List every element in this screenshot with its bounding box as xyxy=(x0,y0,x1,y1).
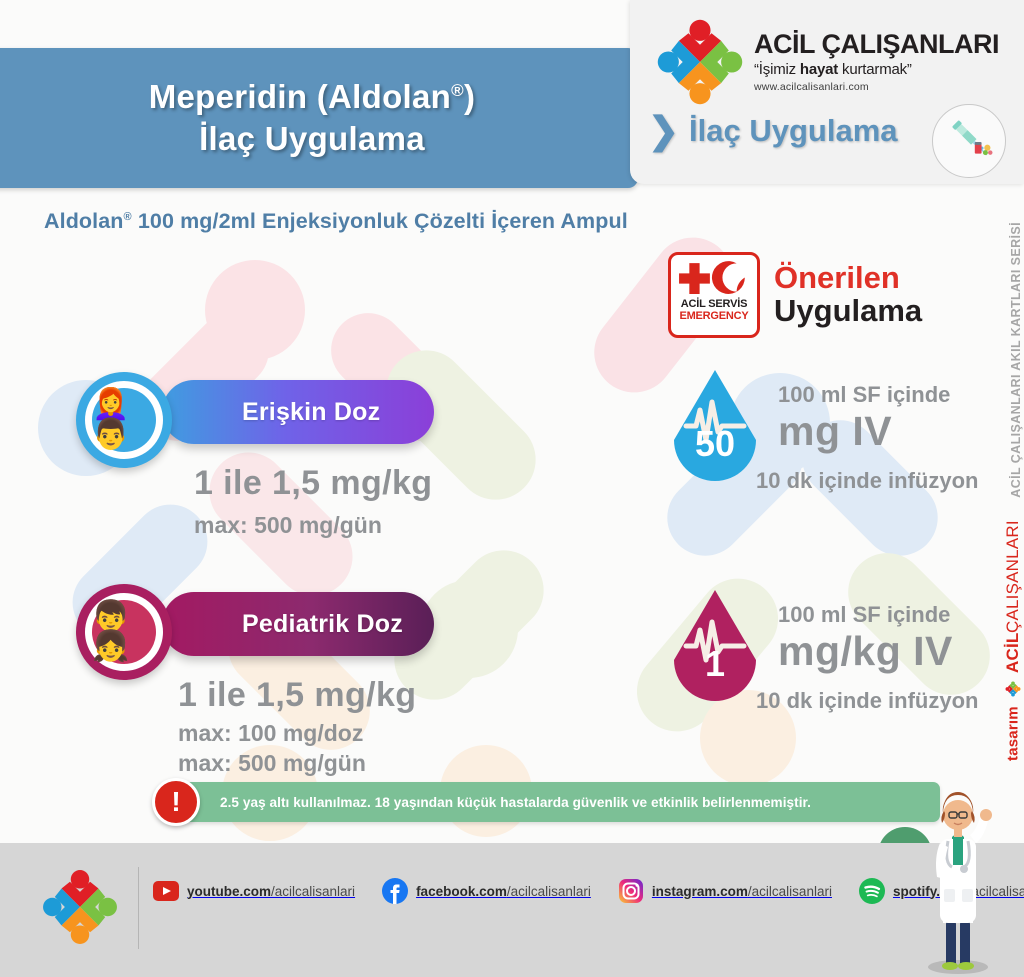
adult-route-top-text: 100 ml SF içinde xyxy=(778,382,950,408)
social-domain-instagram: instagram.com xyxy=(652,884,748,899)
adult-route-bottom-text: 10 dk içinde infüzyon xyxy=(756,468,978,494)
children-icon: 👦👧 xyxy=(76,584,172,680)
slogan-bold: hayat xyxy=(800,61,838,78)
pediatric-drop-value: 1 xyxy=(668,646,762,682)
social-links: youtube.com/acilcalisanlari facebook.com… xyxy=(152,877,1024,905)
social-link-facebook[interactable]: facebook.com/acilcalisanlari xyxy=(381,877,591,905)
subtitle-pre: Aldolan xyxy=(44,209,124,233)
youtube-icon xyxy=(152,877,180,905)
pediatric-dose-pill[interactable]: Pediatrik Doz xyxy=(162,592,434,656)
facebook-icon xyxy=(381,877,409,905)
social-label-youtube: youtube.com/acilcalisanlari xyxy=(187,884,355,899)
adult-dose-block: Erişkin Doz 👩‍🦰👨 1 ile 1,5 mg/kg max: 50… xyxy=(66,372,486,562)
slogan-open: “İşimiz xyxy=(754,61,800,78)
children-emoji: 👦👧 xyxy=(92,600,156,664)
social-label-instagram: instagram.com/acilcalisanlari xyxy=(652,884,832,899)
instagram-icon xyxy=(617,877,645,905)
title-line1-end: ) xyxy=(464,78,475,115)
product-subtitle: Aldolan® 100 mg/2ml Enjeksiyonluk Çözelt… xyxy=(44,209,628,234)
adult-dose-pill[interactable]: Erişkin Doz xyxy=(162,380,434,444)
pediatric-route-main-text: mg/kg IV xyxy=(778,628,953,675)
pediatric-dose-max-2: max: 500 mg/gün xyxy=(178,750,366,777)
pediatric-drop-icon: 1 xyxy=(668,588,762,706)
series-side-label: ACİL ÇALIŞANLARI AKIL KARTLARI SERİSİ xyxy=(1009,222,1023,498)
exclamation-icon: ! xyxy=(152,778,200,826)
footer-bar: youtube.com/acilcalisanlari facebook.com… xyxy=(0,843,1024,977)
social-handle-youtube: /acilcalisanlari xyxy=(271,884,355,899)
syringe-icon xyxy=(932,104,1006,178)
section-label: İlaç Uygulama xyxy=(689,115,897,146)
social-domain-facebook: facebook.com xyxy=(416,884,507,899)
emergency-badge-line2: EMERGENCY xyxy=(679,310,748,322)
adult-route-main-text: mg IV xyxy=(778,408,892,455)
credit-brand-bold: ACİL xyxy=(1003,633,1023,673)
pediatric-dose-max-1: max: 100 mg/doz xyxy=(178,720,363,747)
credit-side-label: tasarım ACİL ÇALIŞANLARI xyxy=(1003,520,1023,761)
credit-mini-logo-icon xyxy=(1005,681,1022,699)
social-domain-youtube: youtube.com xyxy=(187,884,271,899)
title-line1: Meperidin (Aldolan xyxy=(149,78,451,115)
brand-name: ACİL ÇALIŞANLARI xyxy=(754,31,999,58)
adult-drop-icon: 50 xyxy=(668,368,762,486)
brand-url: www.acilcalisanlari.com xyxy=(754,81,999,93)
recommended-heading: ACİL SERVİS EMERGENCY Önerilen Uygulama xyxy=(668,252,922,338)
social-label-facebook: facebook.com/acilcalisanlari xyxy=(416,884,591,899)
emergency-badge-line1: ACİL SERVİS xyxy=(681,298,747,310)
emergency-cross-crescent-icon xyxy=(677,259,751,296)
pediatric-dose-value: 1 ile 1,5 mg/kg xyxy=(178,676,416,715)
recommended-line2: Uygulama xyxy=(774,295,922,328)
adult-dose-label: Erişkin Doz xyxy=(242,398,380,427)
infographic-card: Meperidin (Aldolan®) İlaç Uygulama xyxy=(0,0,1024,977)
brand-row: ACİL ÇALIŞANLARI “İşimiz hayat kurtarmak… xyxy=(652,12,1012,112)
title-banner: Meperidin (Aldolan®) İlaç Uygulama xyxy=(0,48,638,188)
brand-panel: ACİL ÇALIŞANLARI “İşimiz hayat kurtarmak… xyxy=(630,0,1024,184)
adults-emoji: 👩‍🦰👨 xyxy=(92,388,156,452)
credit-brand: ÇALIŞANLARI xyxy=(1003,520,1023,633)
footer-divider xyxy=(138,867,139,949)
social-handle-facebook: /acilcalisanlari xyxy=(507,884,591,899)
brand-text: ACİL ÇALIŞANLARI “İşimiz hayat kurtarmak… xyxy=(754,31,999,93)
brand-slogan: “İşimiz hayat kurtarmak” xyxy=(754,61,999,78)
page-title: Meperidin (Aldolan®) İlaç Uygulama xyxy=(0,48,638,188)
section-header: ❯ İlaç Uygulama xyxy=(648,112,898,149)
pediatric-route-top-text: 100 ml SF içinde xyxy=(778,602,950,628)
emergency-badge: ACİL SERVİS EMERGENCY xyxy=(668,252,760,338)
title-line2: İlaç Uygulama xyxy=(199,118,425,160)
subtitle-post: 100 mg/2ml Enjeksiyonluk Çözelti İçeren … xyxy=(132,209,628,233)
adult-drop-value: 50 xyxy=(668,426,762,462)
pediatric-route-bottom-text: 10 dk içinde infüzyon xyxy=(756,688,978,714)
footer-logo-icon xyxy=(38,865,122,949)
recommended-heading-text: Önerilen Uygulama xyxy=(774,262,922,328)
warning-text: 2.5 yaş altı kullanılmaz. 18 yaşından kü… xyxy=(220,782,811,822)
acilcalisanlari-logo-icon xyxy=(652,14,748,110)
adults-icon: 👩‍🦰👨 xyxy=(76,372,172,468)
adult-dose-value: 1 ile 1,5 mg/kg xyxy=(194,464,432,503)
spotify-icon xyxy=(858,877,886,905)
adult-dose-max-1: max: 500 mg/gün xyxy=(194,512,382,539)
chevron-right-icon: ❯ xyxy=(648,112,679,149)
social-link-youtube[interactable]: youtube.com/acilcalisanlari xyxy=(152,877,355,905)
warning-banner: ! 2.5 yaş altı kullanılmaz. 18 yaşından … xyxy=(168,782,940,822)
adult-route-block: 50 100 ml SF içinde mg IV 10 dk içinde i… xyxy=(668,368,1008,528)
title-registered-mark: ® xyxy=(451,81,464,100)
recommended-line1: Önerilen xyxy=(774,262,922,295)
credit-prefix: tasarım xyxy=(1005,706,1022,761)
subtitle-registered-mark: ® xyxy=(124,211,132,223)
pediatric-route-block: 1 100 ml SF içinde mg/kg IV 10 dk içinde… xyxy=(668,588,1008,748)
social-handle-instagram: /acilcalisanlari xyxy=(748,884,832,899)
pediatric-dose-label: Pediatrik Doz xyxy=(242,610,403,639)
slogan-close: kurtarmak” xyxy=(838,61,912,78)
pediatric-dose-block: Pediatrik Doz 👦👧 1 ile 1,5 mg/kg max: 10… xyxy=(66,584,486,794)
social-link-instagram[interactable]: instagram.com/acilcalisanlari xyxy=(617,877,832,905)
